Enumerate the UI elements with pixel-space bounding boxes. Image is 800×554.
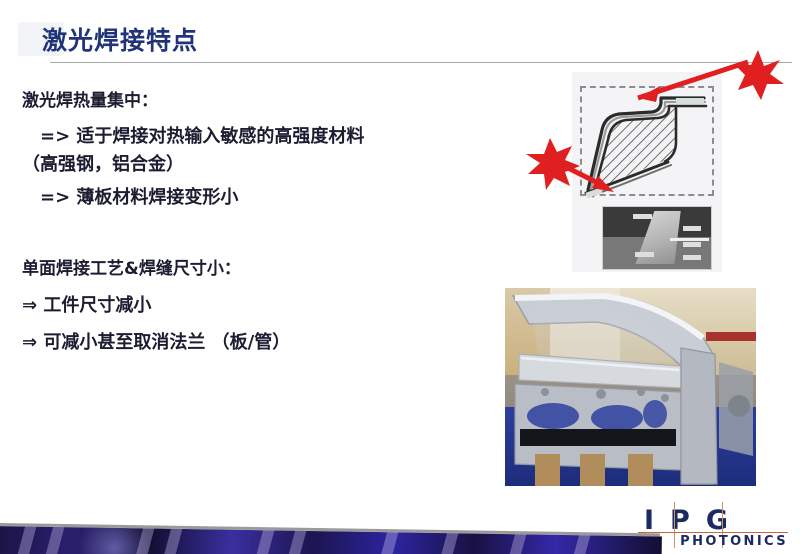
photo-support-block [535, 454, 560, 486]
photo-support-block [628, 454, 653, 486]
logo-subtitle: PHOTONICS [638, 534, 788, 549]
sheet-profile-diagram [572, 72, 722, 207]
logo-letter-g: G [706, 507, 728, 534]
section-one-bullet-1: => 适于焊接对热输入敏感的高强度材料 [40, 122, 364, 148]
photo-support-block [580, 454, 605, 486]
logo-letter-i: I [644, 507, 654, 534]
micrograph-label-tag [683, 255, 701, 260]
section-one-bullet-1-cont: （高强钢，铝合金） [22, 150, 184, 176]
band-streak [281, 526, 310, 554]
car-door-frame-photo [505, 288, 756, 486]
section-two-bullet-1: ⇒ 工件尺寸减小 [22, 291, 151, 317]
micrograph-label-tag [683, 242, 701, 247]
section-two-bullet-2: ⇒ 可减小甚至取消法兰 （板/管） [22, 328, 290, 354]
micrograph-label-tag [633, 214, 651, 219]
band-streak [11, 526, 40, 554]
logo-letters: I P G [638, 500, 788, 534]
slide-canvas: 激光焊接特点 激光焊热量集中： => 适于焊接对热输入敏感的高强度材料 （高强钢… [0, 0, 800, 554]
photo-support-bar [520, 429, 676, 447]
logo-underline [638, 532, 788, 533]
band-streak [157, 526, 186, 554]
band-streak [249, 526, 278, 554]
ipg-photonics-logo: I P G PHOTONICS [638, 500, 788, 550]
band-streak [39, 526, 68, 554]
page-title: 激光焊接特点 [42, 21, 198, 57]
band-streak [565, 526, 594, 554]
weld-seam-micrograph [602, 206, 712, 270]
micrograph-interface-line [670, 238, 709, 241]
weld-cross-section-figure [572, 72, 722, 272]
section-two-lead: 单面焊接工艺&焊缝尺寸小： [22, 254, 241, 279]
section-one-lead: 激光焊热量集中： [22, 86, 158, 111]
micrograph-label-tag [683, 226, 701, 231]
section-one-bullet-2: => 薄板材料焊接变形小 [40, 183, 238, 209]
title-divider [50, 62, 792, 63]
micrograph-label-tag [635, 252, 653, 257]
